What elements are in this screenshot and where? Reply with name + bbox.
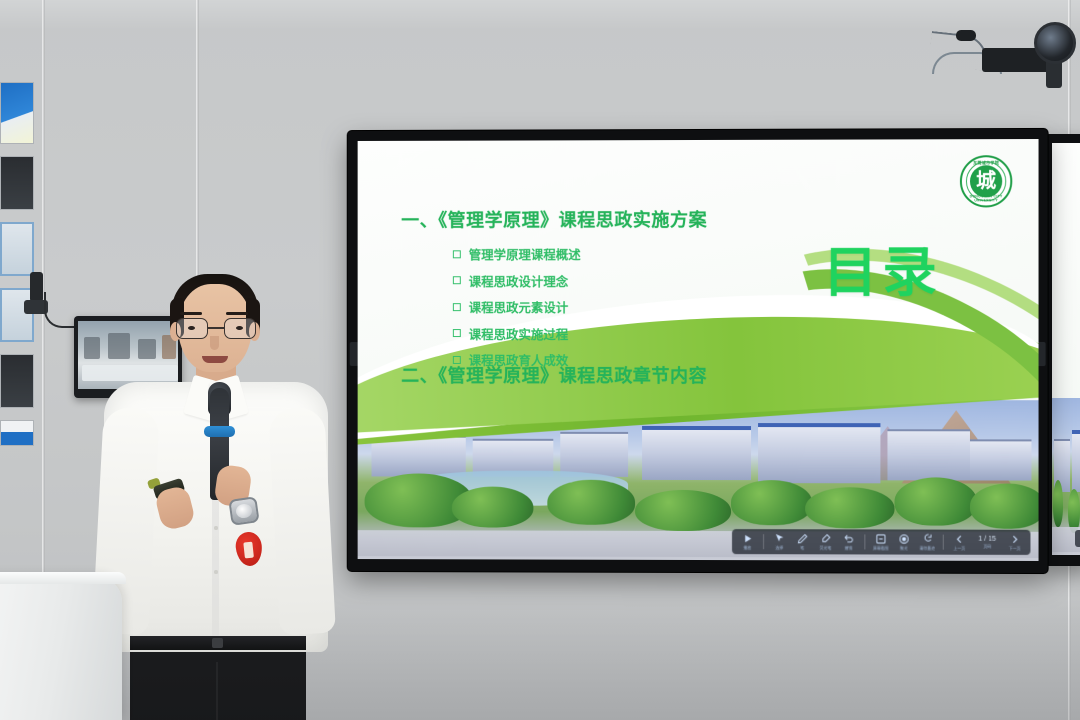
undo-icon bbox=[843, 533, 854, 544]
undo-button[interactable]: 撤销 bbox=[837, 531, 860, 552]
right-arm bbox=[268, 407, 336, 636]
heading-2-text: 《管理学原理》课程思政章节内容 bbox=[438, 366, 707, 386]
bullet-text: 课程思政设计理念 bbox=[469, 271, 569, 290]
pointer-label: 选择 bbox=[776, 545, 784, 551]
glasses-bridge bbox=[208, 327, 224, 329]
highlighter-label: 荧光笔 bbox=[820, 546, 832, 552]
classroom-scene: 东莞城市学院 城 DONGGUAN CITY UNIVERSITY 一、《管理学… bbox=[0, 0, 1080, 720]
highlighter-icon bbox=[820, 533, 831, 544]
slide-heading-1: 一、《管理学原理》课程思政实施方案 bbox=[401, 206, 707, 233]
screenshot-button[interactable]: 屏幕截图 bbox=[869, 531, 892, 552]
eraser-icon bbox=[922, 534, 933, 545]
pointer-button[interactable]: 选择 bbox=[768, 531, 791, 552]
lectern-top bbox=[0, 572, 126, 584]
shirt-button bbox=[214, 526, 218, 530]
lectern bbox=[0, 576, 122, 720]
nose bbox=[210, 336, 219, 350]
microphone-band bbox=[204, 426, 235, 437]
bullet-square-icon bbox=[453, 250, 461, 258]
next-slide-label: 下一页 bbox=[1009, 546, 1021, 552]
pen-label: 笔 bbox=[801, 546, 805, 552]
eye-right bbox=[236, 326, 243, 330]
play-button[interactable]: 播放 bbox=[736, 531, 759, 552]
mouth bbox=[202, 356, 228, 363]
screenshot-label: 屏幕截图 bbox=[873, 546, 888, 552]
slide-title: 目录 bbox=[823, 246, 942, 300]
main-display[interactable]: 东莞城市学院 城 DONGGUAN CITY UNIVERSITY 一、《管理学… bbox=[348, 129, 1048, 573]
pen-button[interactable]: 笔 bbox=[791, 531, 814, 552]
watch-face bbox=[235, 503, 253, 519]
list-item: 课程思政元素设计 bbox=[453, 297, 581, 316]
eye-left bbox=[188, 326, 195, 330]
page-indicator-value: 1 / 15 bbox=[978, 536, 996, 543]
main-display-screen: 东莞城市学院 城 DONGGUAN CITY UNIVERSITY 一、《管理学… bbox=[358, 139, 1039, 561]
presenter bbox=[96, 270, 332, 720]
bullet-text: 管理学原理课程概述 bbox=[469, 244, 581, 263]
prev-slide-button[interactable]: 上一页 bbox=[948, 532, 971, 553]
bullet-square-icon bbox=[453, 276, 461, 284]
screenshot-icon bbox=[875, 533, 886, 544]
badge-ribbon bbox=[243, 542, 254, 559]
poster-pale-2 bbox=[0, 288, 34, 342]
page-indicator-label: 页码 bbox=[983, 544, 991, 550]
spotlight-label: 聚光 bbox=[900, 546, 908, 552]
undo-label: 撤销 bbox=[845, 546, 853, 552]
toolbar-divider bbox=[763, 534, 764, 549]
bullet-square-icon bbox=[453, 329, 461, 337]
poster-dark-2 bbox=[0, 354, 34, 408]
trouser-seam bbox=[216, 662, 218, 720]
shirt-button bbox=[214, 570, 218, 574]
ceiling-band bbox=[0, 0, 1080, 30]
slide-bullet-list: 管理学原理课程概述 课程思政设计理念 课程思政元素设计 课程思政实施过 bbox=[453, 244, 581, 376]
toolbar-tools-group: 播放 选择 笔 bbox=[736, 531, 1026, 553]
bullet-text: 课程思政元素设计 bbox=[469, 297, 569, 316]
eyebrow-left bbox=[180, 312, 202, 315]
spotlight-button[interactable]: 聚光 bbox=[892, 531, 915, 552]
presentation-slide: 东莞城市学院 城 DONGGUAN CITY UNIVERSITY 一、《管理学… bbox=[358, 139, 1039, 561]
belt-buckle bbox=[212, 638, 223, 648]
poster-blue-top bbox=[0, 82, 34, 144]
heading-1-text: 《管理学原理》课程思政实施方案 bbox=[438, 210, 707, 230]
ppt-toolbar[interactable]: 播放 选择 笔 bbox=[732, 529, 1030, 555]
list-item: 管理学原理课程概述 bbox=[453, 244, 581, 263]
page-indicator[interactable]: 1 / 15 页码 bbox=[971, 532, 1003, 553]
list-item: 课程思政实施过程 bbox=[453, 324, 581, 343]
wristwatch bbox=[228, 496, 259, 526]
heading-2-number: 二、 bbox=[401, 366, 438, 386]
toolbar-divider bbox=[943, 535, 944, 550]
list-item: 课程思政设计理念 bbox=[453, 271, 581, 290]
spotlight-icon bbox=[899, 534, 910, 545]
eyebrow-right bbox=[226, 312, 248, 315]
secondary-slide bbox=[1052, 143, 1080, 555]
chevron-left-icon bbox=[954, 534, 965, 545]
bullet-square-icon bbox=[453, 303, 461, 311]
eraser-label: 清除墨迹 bbox=[919, 546, 935, 552]
slide-content: 一、《管理学原理》课程思政实施方案 管理学原理课程概述 课程思政设计理念 bbox=[358, 139, 1039, 401]
eraser-button[interactable]: 清除墨迹 bbox=[916, 532, 939, 553]
cable-clip bbox=[956, 30, 976, 41]
ceiling-camera bbox=[1034, 22, 1076, 64]
play-label: 播放 bbox=[744, 545, 752, 551]
poster-dark-1 bbox=[0, 156, 34, 210]
next-slide-button[interactable]: 下一页 bbox=[1003, 532, 1026, 553]
pointer-icon bbox=[774, 533, 785, 544]
secondary-display[interactable] bbox=[1046, 134, 1080, 566]
poster-pale-1 bbox=[0, 222, 34, 276]
chevron-right-icon bbox=[1009, 534, 1020, 545]
highlighter-button[interactable]: 荧光笔 bbox=[814, 531, 837, 552]
poster-blue-bottom bbox=[0, 420, 34, 446]
bullet-text: 课程思政实施过程 bbox=[469, 324, 569, 343]
wall-poster-column bbox=[0, 82, 34, 458]
secondary-display-screen bbox=[1052, 143, 1080, 555]
play-icon bbox=[742, 533, 753, 544]
power-adapter bbox=[30, 272, 43, 302]
toolbar-divider bbox=[864, 534, 865, 549]
slide-heading-2: 二、《管理学原理》课程思政章节内容 bbox=[401, 362, 707, 388]
secondary-ppt-toolbar[interactable] bbox=[1075, 530, 1080, 547]
pen-icon bbox=[797, 533, 808, 544]
prev-slide-label: 上一页 bbox=[954, 546, 966, 552]
heading-1-number: 一、 bbox=[401, 210, 438, 230]
